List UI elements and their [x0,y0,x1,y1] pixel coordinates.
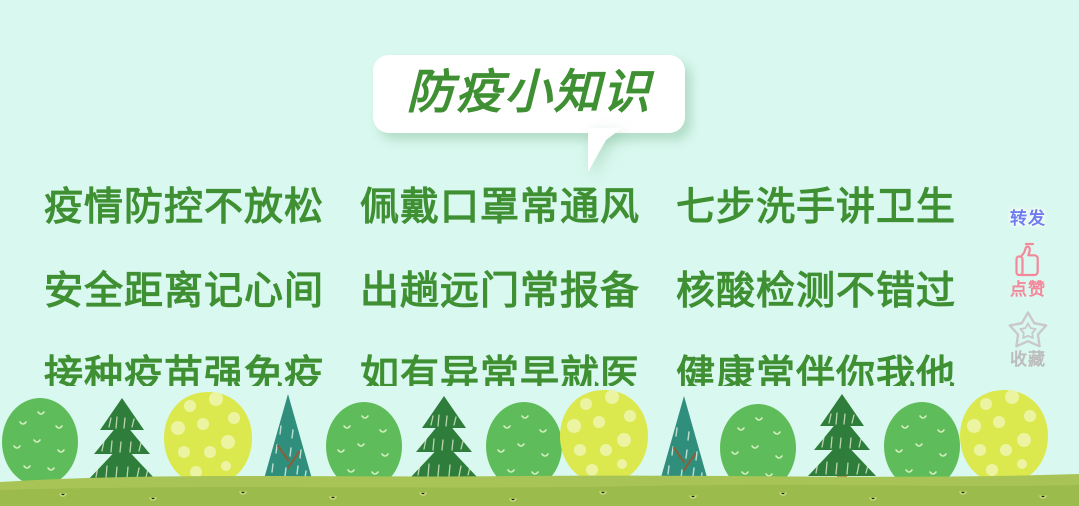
thumbs-up-icon [1008,239,1048,279]
forward-button[interactable]: 转发 [1010,210,1046,229]
slogan-row: 安全距离记心间 出趟远门常报备 核酸检测不错过 [0,249,1000,333]
star-icon [1008,309,1048,349]
page-title: 防疫小知识 [373,55,685,133]
favorite-label: 收藏 [1010,351,1046,370]
slogan-phrase: 七步洗手讲卫生 [676,188,956,227]
slogan-phrase: 核酸检测不错过 [676,272,956,311]
slogan-phrase: 安全距离记心间 [44,272,324,311]
like-button[interactable]: 点赞 [1008,239,1048,300]
action-rail: 转发 点赞 收藏 [989,210,1067,370]
slogan-phrase: 出趟远门常报备 [360,272,640,311]
scenery-svg [0,386,1079,506]
scenery-illustration [0,386,1079,506]
slogan-row: 疫情防控不放松 佩戴口罩常通风 七步洗手讲卫生 [0,165,1000,249]
slogan-phrase: 疫情防控不放松 [44,188,324,227]
title-bubble: 防疫小知识 [373,55,685,133]
favorite-button[interactable]: 收藏 [1008,309,1048,370]
forward-label: 转发 [1010,210,1046,229]
slogan-phrase: 佩戴口罩常通风 [360,188,640,227]
slogan-block: 疫情防控不放松 佩戴口罩常通风 七步洗手讲卫生 安全距离记心间 出趟远门常报备 … [0,165,1000,417]
like-label: 点赞 [1010,281,1046,300]
poster-canvas: 防疫小知识 疫情防控不放松 佩戴口罩常通风 七步洗手讲卫生 安全距离记心间 出趟… [0,0,1079,506]
